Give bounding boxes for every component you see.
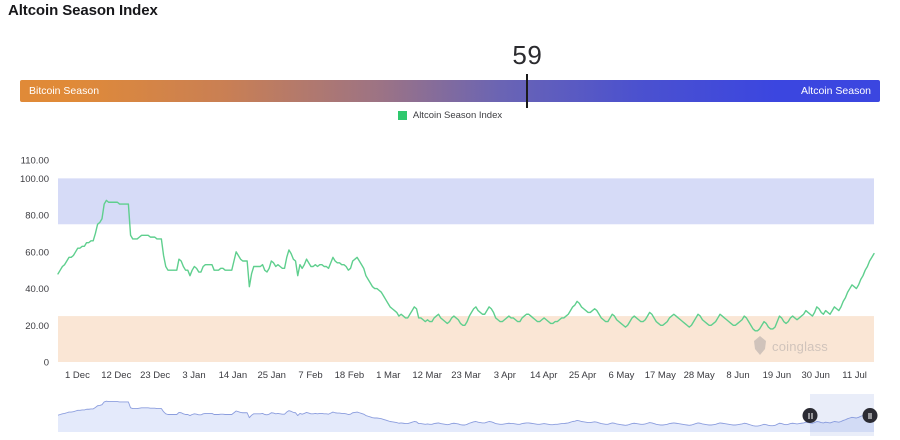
- page-title: Altcoin Season Index: [8, 2, 158, 19]
- altcoin-season-band: [58, 178, 874, 224]
- x-tick-label: 6 May: [608, 370, 634, 381]
- y-tick-label: 110.00: [21, 156, 49, 167]
- legend-label-altcoin-season-index: Altcoin Season Index: [413, 110, 502, 121]
- legend-swatch-icon: [398, 111, 407, 120]
- y-tick-label: 100.00: [20, 174, 49, 185]
- x-tick-label: 28 May: [684, 370, 715, 381]
- x-tick-label: 3 Jan: [182, 370, 205, 381]
- x-tick-label: 12 Mar: [412, 370, 442, 381]
- x-tick-label: 25 Jan: [257, 370, 286, 381]
- x-tick-label: 23 Mar: [451, 370, 481, 381]
- y-tick-label: 80.00: [25, 211, 49, 222]
- chart-range-navigator[interactable]: [58, 394, 874, 436]
- x-tick-label: 17 May: [645, 370, 676, 381]
- x-tick-label: 30 Jun: [801, 370, 830, 381]
- y-tick-label: 40.00: [25, 284, 49, 295]
- x-tick-label: 23 Dec: [140, 370, 170, 381]
- chart-plot-area[interactable]: 020.0040.0060.0080.00100.00110.00 1 Dec1…: [0, 126, 900, 386]
- x-tick-label: 12 Dec: [101, 370, 131, 381]
- navigator-left-handle[interactable]: [803, 408, 818, 423]
- main-chart[interactable]: 020.0040.0060.0080.00100.00110.00 1 Dec1…: [0, 126, 900, 386]
- y-tick-label: 60.00: [25, 247, 49, 258]
- x-tick-label: 25 Apr: [569, 370, 596, 381]
- y-tick-label: 0: [44, 358, 49, 369]
- x-tick-label: 8 Jun: [726, 370, 749, 381]
- x-tick-label: 14 Apr: [530, 370, 557, 381]
- threshold-bands: [58, 178, 874, 362]
- x-tick-label: 11 Jul: [842, 370, 867, 381]
- season-value-marker: [526, 74, 528, 108]
- y-tick-label: 20.00: [25, 321, 49, 332]
- altcoin-season-index-value: 59: [512, 40, 542, 71]
- x-tick-label: 14 Jan: [219, 370, 248, 381]
- chart-legend[interactable]: Altcoin Season Index: [0, 110, 900, 121]
- bitcoin-season-label: Bitcoin Season: [29, 85, 99, 97]
- x-tick-label: 18 Feb: [335, 370, 365, 381]
- x-tick-label: 19 Jun: [763, 370, 792, 381]
- altcoin-season-label: Altcoin Season: [801, 85, 871, 97]
- navigator-area-fill: [58, 401, 874, 432]
- x-tick-label: 3 Apr: [494, 370, 516, 381]
- x-tick-label: 1 Dec: [65, 370, 90, 381]
- x-tick-label: 1 Mar: [376, 370, 400, 381]
- x-tick-label: 7 Feb: [298, 370, 322, 381]
- y-axis: 020.0040.0060.0080.00100.00110.00: [20, 156, 49, 369]
- navigator-sparkline[interactable]: [58, 394, 874, 436]
- x-axis: 1 Dec12 Dec23 Dec3 Jan14 Jan25 Jan7 Feb1…: [65, 370, 867, 381]
- season-gradient-bar: Bitcoin Season Altcoin Season: [20, 80, 880, 102]
- navigator-right-handle[interactable]: [863, 408, 878, 423]
